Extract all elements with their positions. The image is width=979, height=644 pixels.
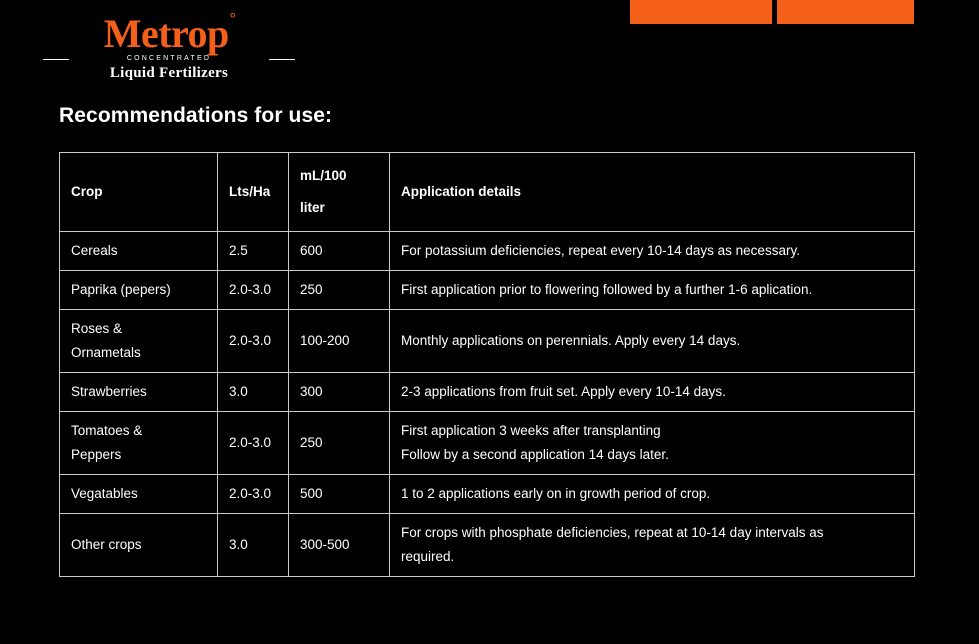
cell-ml-100: 300-500: [289, 514, 390, 577]
table-row: Paprika (pepers) 2.0-3.0 250 First appli…: [60, 271, 915, 310]
orange-bar-left: [630, 0, 772, 24]
cell-crop: Other crops: [60, 514, 218, 577]
column-header-application-details: Application details: [390, 153, 915, 232]
cell-ml-100: 500: [289, 475, 390, 514]
cell-ml-100: 250: [289, 271, 390, 310]
cell-crop-line2: Ornametals: [71, 343, 206, 363]
recommendations-table: Crop Lts/Ha mL/100 liter Application det…: [59, 152, 915, 577]
cell-lts-ha: 2.5: [218, 232, 289, 271]
cell-crop-line1: Roses &: [71, 319, 206, 339]
column-header-ml-line2: liter: [300, 198, 378, 218]
cell-crop: Strawberries: [60, 373, 218, 412]
column-header-ml-line1: mL/100: [300, 166, 378, 186]
cell-lts-ha: 2.0-3.0: [218, 310, 289, 373]
brand-tagline-lower: Liquid Fertilizers: [59, 64, 279, 82]
cell-details-line2: required.: [401, 547, 903, 567]
cell-application-details: For potassium deficiencies, repeat every…: [390, 232, 915, 271]
orange-bar-right: [777, 0, 914, 24]
table-row: Other crops 3.0 300-500 For crops with p…: [60, 514, 915, 577]
brand-tagline-upper: CONCENTRATED: [59, 55, 279, 62]
cell-crop: Cereals: [60, 232, 218, 271]
cell-lts-ha: 2.0-3.0: [218, 271, 289, 310]
cell-lts-ha: 2.0-3.0: [218, 475, 289, 514]
cell-crop: Vegatables: [60, 475, 218, 514]
brand-logo: Metrop° CONCENTRATED Liquid Fertilizers: [59, 14, 279, 82]
cell-details-line1: First application 3 weeks after transpla…: [401, 421, 903, 441]
cell-lts-ha: 2.0-3.0: [218, 412, 289, 475]
table-row: Tomatoes & Peppers 2.0-3.0 250 First app…: [60, 412, 915, 475]
table-row: Vegatables 2.0-3.0 500 1 to 2 applicatio…: [60, 475, 915, 514]
column-header-ml-per-100-liter: mL/100 liter: [289, 153, 390, 232]
cell-ml-100: 100-200: [289, 310, 390, 373]
cell-details-line1: For crops with phosphate deficiencies, r…: [401, 523, 903, 543]
cell-crop-line1: Tomatoes &: [71, 421, 206, 441]
cell-application-details: For crops with phosphate deficiencies, r…: [390, 514, 915, 577]
cell-crop: Paprika (pepers): [60, 271, 218, 310]
cell-ml-100: 600: [289, 232, 390, 271]
cell-details-line2: Follow by a second application 14 days l…: [401, 445, 903, 465]
registered-mark-icon: °: [230, 11, 236, 27]
cell-lts-ha: 3.0: [218, 373, 289, 412]
cell-application-details: Monthly applications on perennials. Appl…: [390, 310, 915, 373]
table-row: Strawberries 3.0 300 2-3 applications fr…: [60, 373, 915, 412]
cell-lts-ha: 3.0: [218, 514, 289, 577]
table-header-row: Crop Lts/Ha mL/100 liter Application det…: [60, 153, 915, 232]
cell-ml-100: 300: [289, 373, 390, 412]
cell-crop-line2: Peppers: [71, 445, 206, 465]
brand-name-text: Metrop: [104, 11, 229, 56]
column-header-crop: Crop: [60, 153, 218, 232]
column-header-lts-ha: Lts/Ha: [218, 153, 289, 232]
table-row: Cereals 2.5 600 For potassium deficienci…: [60, 232, 915, 271]
brand-name: Metrop°: [104, 14, 235, 54]
cell-application-details: First application 3 weeks after transpla…: [390, 412, 915, 475]
table-row: Roses & Ornametals 2.0-3.0 100-200 Month…: [60, 310, 915, 373]
cell-application-details: 1 to 2 applications early on in growth p…: [390, 475, 915, 514]
cell-application-details: 2-3 applications from fruit set. Apply e…: [390, 373, 915, 412]
cell-crop: Tomatoes & Peppers: [60, 412, 218, 475]
page-title: Recommendations for use:: [59, 104, 332, 128]
cell-application-details: First application prior to flowering fol…: [390, 271, 915, 310]
cell-crop: Roses & Ornametals: [60, 310, 218, 373]
cell-ml-100: 250: [289, 412, 390, 475]
